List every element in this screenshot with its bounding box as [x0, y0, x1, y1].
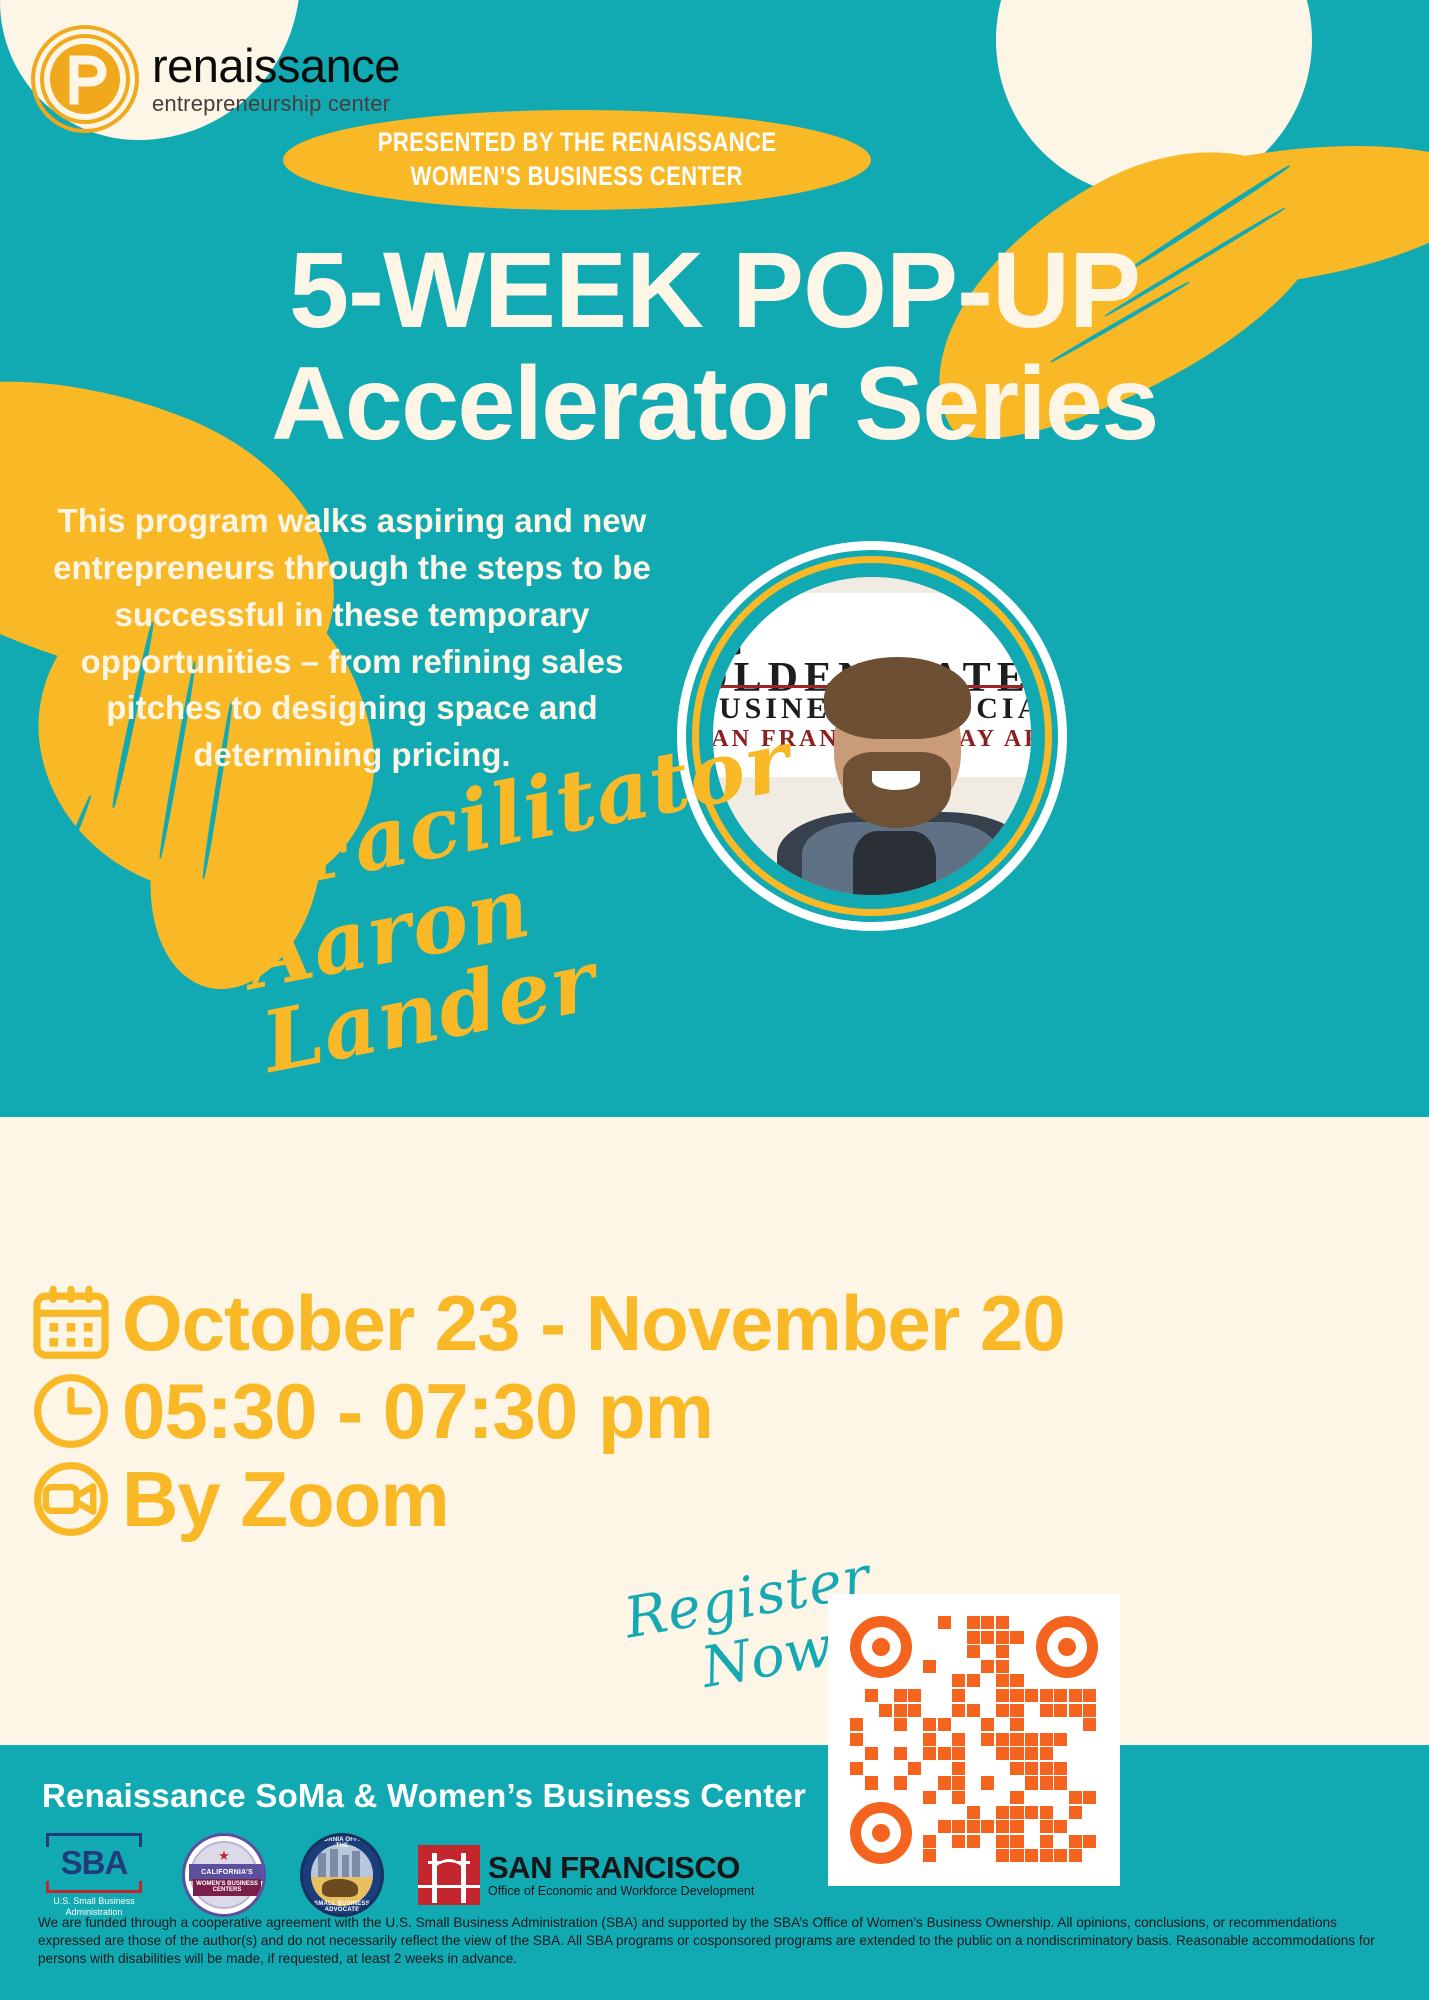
- qr-module: [1040, 1776, 1053, 1789]
- qr-module: [879, 1704, 892, 1717]
- qr-module: [1025, 1689, 1038, 1702]
- qr-module: [894, 1689, 907, 1702]
- qr-module: [952, 1704, 965, 1717]
- logo-subtitle: entrepreneurship center: [152, 91, 400, 117]
- qr-module: [952, 1776, 965, 1789]
- qr-module: [1083, 1718, 1096, 1731]
- badge-line-2: WOMEN’S BUSINESS CENTER: [411, 160, 743, 194]
- qr-module: [1069, 1689, 1082, 1702]
- qr-module: [894, 1718, 907, 1731]
- headline-line-1: 5-WEEK POP-UP: [0, 236, 1429, 344]
- qr-module: [952, 1733, 965, 1746]
- qr-module: [923, 1660, 936, 1673]
- qr-module: [1083, 1704, 1096, 1717]
- qr-module: [996, 1660, 1009, 1673]
- qr-module: [952, 1747, 965, 1760]
- qr-module: [1040, 1762, 1053, 1775]
- footer-title: Renaissance SoMa & Women’s Business Cent…: [42, 1777, 806, 1815]
- qr-module: [1083, 1689, 1096, 1702]
- qr-module: [967, 1820, 980, 1833]
- sf-text-sub: Office of Economic and Workforce Develop…: [488, 1885, 754, 1899]
- qr-module: [967, 1616, 980, 1629]
- qr-module: [996, 1806, 1009, 1819]
- headline-line-2: Accelerator Series: [0, 350, 1429, 459]
- qr-module: [850, 1762, 863, 1775]
- qr-module: [1010, 1631, 1023, 1644]
- qr-module: [938, 1718, 951, 1731]
- qr-module: [1069, 1806, 1082, 1819]
- qr-module: [1025, 1849, 1038, 1862]
- logo-wordmark: renaissance entrepreneurship center: [152, 42, 400, 117]
- golden-gate-bridge-icon: [418, 1845, 480, 1905]
- sba-logo: SBA U.S. Small Business Administration: [40, 1833, 148, 1917]
- sba-mark-icon: SBA: [42, 1833, 146, 1893]
- qr-module: [952, 1674, 965, 1687]
- qr-module: [996, 1704, 1009, 1717]
- qr-module: [1025, 1747, 1038, 1760]
- qr-module: [923, 1747, 936, 1760]
- qr-module: [865, 1689, 878, 1702]
- qr-module: [1054, 1762, 1067, 1775]
- qr-finder-top-left: [850, 1616, 912, 1678]
- qr-module: [952, 1762, 965, 1775]
- qr-module: [908, 1704, 921, 1717]
- qr-module: [938, 1820, 951, 1833]
- qr-module: [967, 1645, 980, 1658]
- california-office-small-business-advocate-seal: CALIFORNIA OFFICE OF THE SMALL BUSINESS …: [300, 1833, 384, 1917]
- qr-module: [865, 1776, 878, 1789]
- qr-module: [923, 1835, 936, 1848]
- poster-flyer: renaissance entrepreneurship center PRES…: [0, 0, 1429, 2000]
- program-description: This program walks aspiring and new entr…: [52, 498, 652, 779]
- seal-building: [352, 1851, 360, 1878]
- qr-module: [1054, 1820, 1067, 1833]
- seal-star-icon: ★: [218, 1848, 230, 1864]
- qr-module: [1040, 1806, 1053, 1819]
- qr-module: [1010, 1791, 1023, 1804]
- qr-module: [923, 1718, 936, 1731]
- qr-module: [981, 1820, 994, 1833]
- detail-row-date: October 23 - November 20: [28, 1280, 1065, 1366]
- qr-module: [996, 1616, 1009, 1629]
- qr-module: [1010, 1689, 1023, 1702]
- qr-module: [1010, 1733, 1023, 1746]
- brush-texture-streak: [32, 795, 93, 936]
- sf-wordmark: SAN FRANCISCO Office of Economic and Wor…: [488, 1852, 754, 1899]
- qr-module: [981, 1631, 994, 1644]
- qr-module: [981, 1718, 994, 1731]
- seal-bear-icon: [322, 1879, 358, 1898]
- qr-module: [1069, 1704, 1082, 1717]
- detail-row-platform: By Zoom: [28, 1456, 1065, 1542]
- qr-module: [894, 1747, 907, 1760]
- san-francisco-oewd-logo: SAN FRANCISCO Office of Economic and Wor…: [418, 1845, 754, 1905]
- calosba-seal-icon: CALIFORNIA OFFICE OF THE SMALL BUSINESS …: [300, 1833, 384, 1917]
- qr-module: [967, 1631, 980, 1644]
- qr-module: [1010, 1704, 1023, 1717]
- seal-text-bottom: SMALL BUSINESS ADVOCATE: [303, 1901, 381, 1913]
- qr-module: [923, 1791, 936, 1804]
- qr-module: [1054, 1849, 1067, 1862]
- qr-module: [1010, 1674, 1023, 1687]
- qr-module: [981, 1776, 994, 1789]
- qr-module: [996, 1835, 1009, 1848]
- qr-module: [1054, 1704, 1067, 1717]
- qr-module: [908, 1762, 921, 1775]
- qr-module: [1069, 1849, 1082, 1862]
- qr-module: [967, 1835, 980, 1848]
- qr-module: [981, 1733, 994, 1746]
- renaissance-logo: renaissance entrepreneurship center: [30, 24, 400, 134]
- seal-ribbon-bottom: WOMEN’S BUSINESS CENTERS: [193, 1879, 261, 1896]
- qr-module: [1054, 1776, 1067, 1789]
- sba-wordmark: SBA: [42, 1844, 146, 1882]
- bridge-deck: [418, 1885, 480, 1888]
- bridge-cable: [434, 1859, 464, 1885]
- qr-module: [938, 1616, 951, 1629]
- qr-module: [894, 1776, 907, 1789]
- qr-module: [1010, 1820, 1023, 1833]
- qr-module: [952, 1791, 965, 1804]
- qr-module: [1069, 1835, 1082, 1848]
- qr-module: [952, 1689, 965, 1702]
- seal-building: [330, 1849, 339, 1879]
- qr-module: [923, 1733, 936, 1746]
- qr-module: [981, 1616, 994, 1629]
- qr-module: [1083, 1791, 1096, 1804]
- qr-module: [1040, 1849, 1053, 1862]
- ca-wbc-seal-icon: ★ CALIFORNIA’S WOMEN’S BUSINESS CENTERS: [182, 1833, 266, 1917]
- qr-module: [967, 1674, 980, 1687]
- qr-module: [1040, 1704, 1053, 1717]
- qr-module: [996, 1820, 1009, 1833]
- sf-text-main: SAN FRANCISCO: [488, 1852, 754, 1883]
- qr-module: [952, 1820, 965, 1833]
- funding-disclaimer: We are funded through a cooperative agre…: [38, 1914, 1392, 1968]
- qr-module: [1025, 1806, 1038, 1819]
- qr-module: [967, 1704, 980, 1717]
- qr-module: [1010, 1747, 1023, 1760]
- qr-finder-bottom-left: [850, 1802, 912, 1864]
- qr-module: [1025, 1733, 1038, 1746]
- qr-code-icon[interactable]: [828, 1594, 1120, 1886]
- qr-module: [908, 1689, 921, 1702]
- qr-finder-top-right: [1036, 1616, 1098, 1678]
- qr-module: [1040, 1733, 1053, 1746]
- qr-module: [1040, 1835, 1053, 1848]
- qr-module: [996, 1849, 1009, 1862]
- logo-name: renaissance: [152, 42, 400, 89]
- qr-module: [850, 1718, 863, 1731]
- seal-text-top: CALIFORNIA OFFICE OF THE: [303, 1837, 381, 1849]
- qr-module: [996, 1631, 1009, 1644]
- qr-module: [1010, 1806, 1023, 1819]
- qr-module: [1054, 1733, 1067, 1746]
- qr-module: [1010, 1835, 1023, 1848]
- page-title: 5-WEEK POP-UP Accelerator Series: [0, 236, 1429, 459]
- qr-module: [996, 1747, 1009, 1760]
- seal-building: [318, 1853, 325, 1879]
- qr-module: [1040, 1689, 1053, 1702]
- qr-module: [996, 1674, 1009, 1687]
- qr-module: [1025, 1776, 1038, 1789]
- detail-text-platform: By Zoom: [122, 1457, 449, 1541]
- california-womens-business-centers-seal: ★ CALIFORNIA’S WOMEN’S BUSINESS CENTERS: [182, 1833, 266, 1917]
- event-details-list: October 23 - November 20 05:30 - 07:30 p…: [28, 1280, 1065, 1544]
- qr-module: [996, 1645, 1009, 1658]
- qr-module: [938, 1776, 951, 1789]
- qr-module: [967, 1806, 980, 1819]
- qr-module: [1040, 1747, 1053, 1760]
- detail-row-time: 05:30 - 07:30 pm: [28, 1368, 1065, 1454]
- qr-module: [1010, 1762, 1023, 1775]
- qr-module: [1010, 1718, 1023, 1731]
- qr-module: [938, 1747, 951, 1760]
- seal-inner: [311, 1844, 373, 1906]
- partner-logos: SBA U.S. Small Business Administration ★…: [40, 1833, 788, 1917]
- qr-module: [996, 1689, 1009, 1702]
- qr-module: [1083, 1835, 1096, 1848]
- renaissance-r-logo-icon: [30, 24, 140, 134]
- qr-module: [981, 1660, 994, 1673]
- sba-frame-bottom: [46, 1881, 142, 1893]
- seal-building: [342, 1855, 349, 1879]
- detail-text-date: October 23 - November 20: [122, 1281, 1065, 1365]
- qr-module: [1025, 1762, 1038, 1775]
- video-camera-icon: [28, 1456, 114, 1542]
- qr-module: [850, 1733, 863, 1746]
- qr-module: [1054, 1689, 1067, 1702]
- qr-module: [952, 1835, 965, 1848]
- clock-icon: [28, 1368, 114, 1454]
- qr-module: [865, 1747, 878, 1760]
- detail-text-time: 05:30 - 07:30 pm: [122, 1369, 713, 1453]
- qr-module: [1069, 1791, 1082, 1804]
- calendar-icon: [28, 1280, 114, 1366]
- badge-line-1: PRESENTED BY THE RENAISSANCE: [378, 126, 777, 160]
- qr-module: [1040, 1820, 1053, 1833]
- qr-module: [996, 1733, 1009, 1746]
- qr-code-pattern: [850, 1616, 1098, 1864]
- qr-module: [1010, 1849, 1023, 1862]
- qr-module: [923, 1849, 936, 1862]
- qr-module: [894, 1704, 907, 1717]
